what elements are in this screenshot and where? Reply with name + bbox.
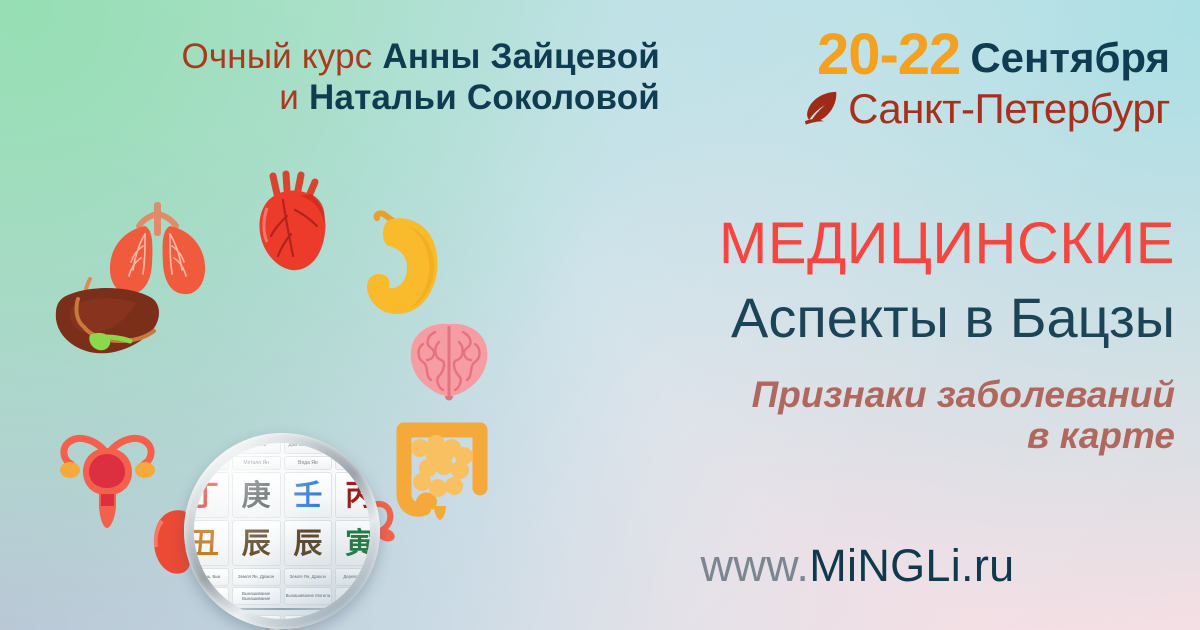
organ-illustration: Личность Дом наслаждений ь Инь Металл Ян… xyxy=(0,150,545,630)
heart-icon xyxy=(253,172,333,274)
bazi-earthly-branch: 辰 xyxy=(284,520,333,566)
bazi-branch-desc: Земля Ян, Дракон xyxy=(284,568,333,586)
bazi-element: Вода Ян xyxy=(284,456,333,470)
bazi-pillar-label-row: Личность Дом наслаждений xyxy=(194,443,370,454)
tagline-line-1: Признаки заболеваний xyxy=(540,374,1175,415)
page-tagline: Признаки заболеваний в карте xyxy=(540,374,1175,457)
bazi-branch-desc-row: Земля Инь, Бык Земля Ян, Дракон Земля Ян… xyxy=(194,566,370,586)
tagline-line-2: в карте xyxy=(540,415,1175,456)
bazi-earthly-branch-row: 丑 辰 辰 寅 xyxy=(194,518,370,566)
bazi-heavenly-stem: 壬 xyxy=(284,472,333,518)
bazi-branch-desc: Дерево Ян, Тигр xyxy=(335,568,370,586)
page-subtitle: Аспекты в Бацзы xyxy=(540,289,1175,348)
uterus-icon xyxy=(55,432,160,534)
bazi-branch-desc: Земля Ян, Дракон xyxy=(232,568,281,586)
bazi-pillar-label: Дом наслаждений xyxy=(284,443,333,454)
bazi-heavenly-stem: 丙 xyxy=(335,472,370,518)
bazi-branch-desc: Земля Инь, Бык xyxy=(194,568,229,586)
bazi-extra-row: 戊 戊 xyxy=(194,610,370,619)
bazi-earthly-branch: 丑 xyxy=(194,520,229,566)
event-date-block: 20-22Сентября Санкт-Петербург xyxy=(700,26,1170,130)
bazi-branch-desc2-row: Монета Оплата Вынашивание Вынашивание Вы… xyxy=(194,586,370,605)
main-text-block: МЕДИЦИНСКИЕ Аспекты в Бацзы Признаки заб… xyxy=(540,215,1175,457)
bazi-branch-desc2: Образ Рождение xyxy=(335,587,370,605)
url-domain: MiNGLi.ru xyxy=(809,540,1014,591)
feather-leaf-icon xyxy=(802,90,840,126)
poster-canvas: Очный курс Анны Зайцевой и Натальи Сокол… xyxy=(0,0,1200,630)
bazi-earthly-branch: 寅 xyxy=(335,520,370,566)
bazi-heavenly-stem-row: 丁 庚 壬 丙 xyxy=(194,470,370,518)
bazi-pillar-label xyxy=(335,443,370,454)
magnifying-glass-icon: Личность Дом наслаждений ь Инь Металл Ян… xyxy=(184,433,380,629)
author-name-1: Анны Зайцевой xyxy=(382,37,660,76)
conjunction-and: и xyxy=(279,78,299,117)
magnifier-lens: Личность Дом наслаждений ь Инь Металл Ян… xyxy=(194,443,370,619)
bazi-pillar-label: Личность xyxy=(232,443,281,454)
bazi-branch-desc2: Вынашивание Могила xyxy=(284,587,333,605)
bazi-extra-cell: 戊 xyxy=(232,615,281,619)
bazi-chart: Личность Дом наслаждений ь Инь Металл Ян… xyxy=(194,443,370,619)
bazi-branch-desc2: Вынашивание Вынашивание xyxy=(232,587,281,605)
bazi-earthly-branch: 辰 xyxy=(232,520,281,566)
bazi-extra-cell xyxy=(335,615,370,619)
course-heading-line1: Очный курс Анны Зайцевой xyxy=(0,36,660,77)
course-label: Очный курс xyxy=(181,37,372,76)
url-prefix: www. xyxy=(701,540,810,591)
bazi-extra-cell: 戊 xyxy=(284,615,333,619)
event-cityline: Санкт-Петербург xyxy=(700,88,1170,130)
event-month: Сентября xyxy=(970,34,1170,81)
brain-icon xyxy=(405,320,493,404)
liver-icon xyxy=(50,275,165,365)
bazi-element: Металл Ян xyxy=(232,456,281,470)
bazi-branch-desc2: Монета Оплата xyxy=(194,587,229,605)
course-heading: Очный курс Анны Зайцевой и Натальи Сокол… xyxy=(0,36,660,119)
bazi-pillar-label xyxy=(194,443,229,454)
website-url[interactable]: www.MiNGLi.ru xyxy=(540,540,1175,592)
course-heading-line2: и Натальи Соколовой xyxy=(0,77,660,118)
bazi-heavenly-stem: 丁 xyxy=(194,472,229,518)
bazi-extra-cell xyxy=(194,615,229,619)
event-city: Санкт-Петербург xyxy=(848,88,1170,130)
bazi-element: ь Инь xyxy=(194,456,229,470)
bazi-element: Огонь xyxy=(335,456,370,470)
page-title: МЕДИЦИНСКИЕ xyxy=(540,215,1175,273)
bazi-heavenly-stem: 庚 xyxy=(232,472,281,518)
bazi-element-row: ь Инь Металл Ян Вода Ян Огонь xyxy=(194,454,370,470)
event-dateline: 20-22Сентября xyxy=(700,26,1170,84)
event-dates: 20-22 xyxy=(817,22,960,87)
author-name-2: Натальи Соколовой xyxy=(309,78,660,117)
intestines-icon xyxy=(390,410,495,520)
stomach-icon xyxy=(355,212,447,322)
